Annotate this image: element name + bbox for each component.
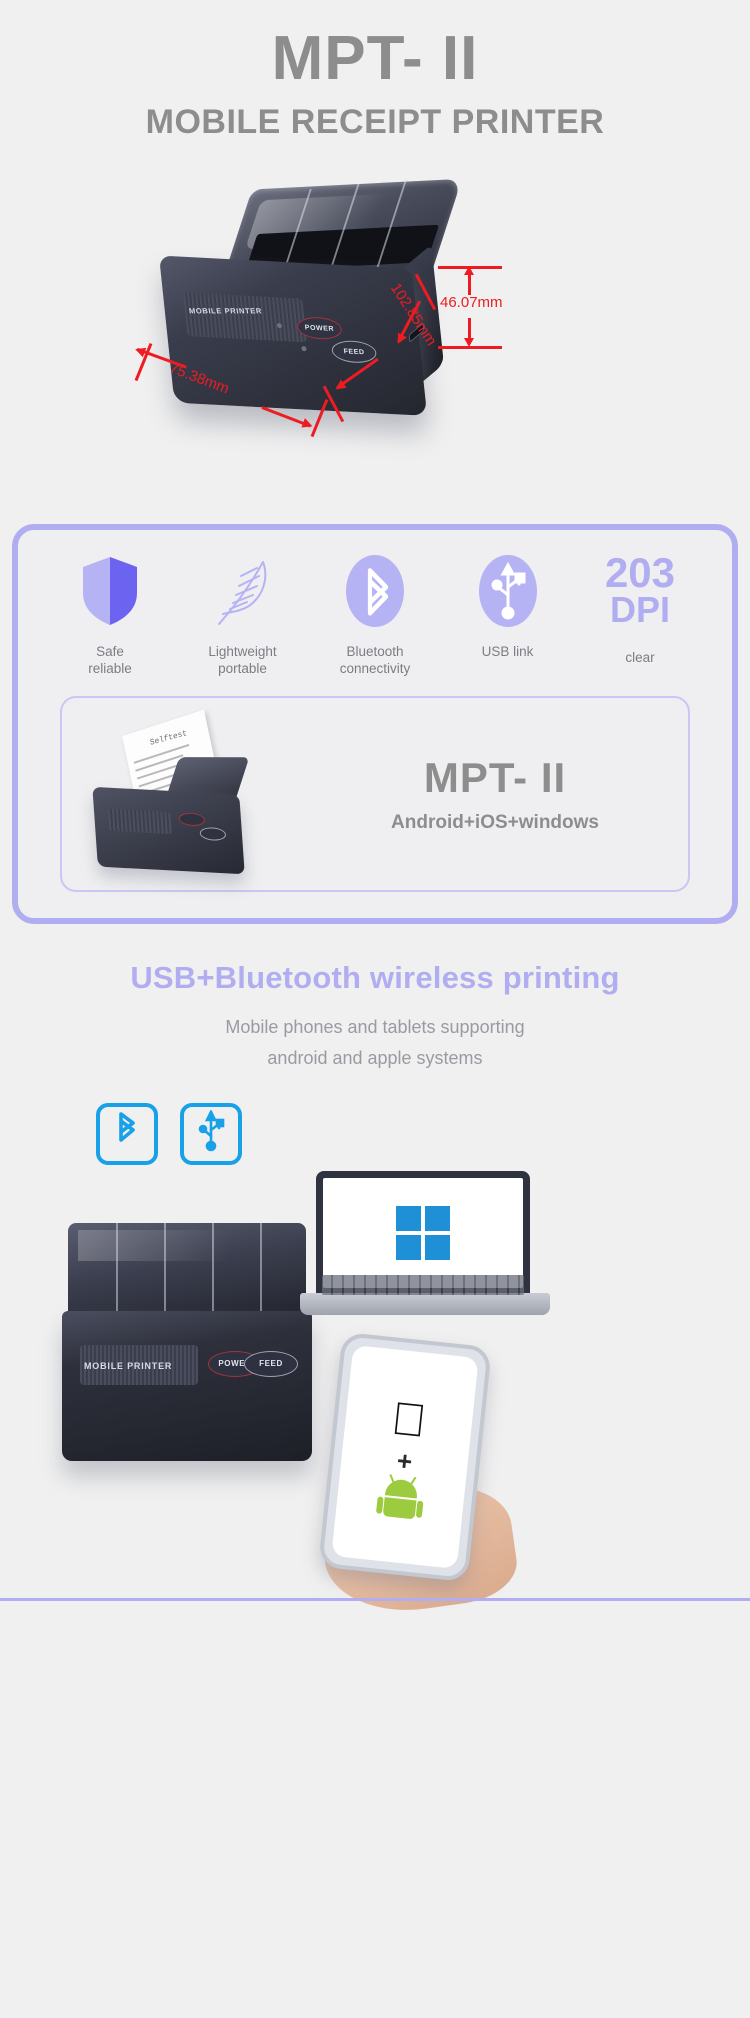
printer-lid — [68, 1223, 306, 1315]
caption-line-1: Lightweight — [179, 644, 307, 661]
feature-caption: USB link — [444, 644, 572, 661]
wireless-subtext: Mobile phones and tablets supporting and… — [0, 1012, 750, 1075]
caption-line-2: connectivity — [311, 661, 439, 678]
dpi-number: 203 — [605, 554, 675, 593]
windows-logo-icon — [396, 1206, 450, 1260]
android-robot-icon — [376, 1477, 426, 1520]
mini-textured-panel — [108, 809, 172, 834]
feature-item-usb: USB link — [444, 552, 572, 661]
printer-body: MOBILE PRINTER POWER FEED — [62, 1311, 312, 1461]
feature-item-lightweight: Lightweight portable — [179, 552, 307, 678]
device-brand-label: MOBILE PRINTER — [84, 1361, 172, 1371]
usb-badge — [180, 1103, 242, 1165]
wireless-subline-2: android and apple systems — [0, 1043, 750, 1075]
usb-icon — [196, 1110, 226, 1157]
hero-section: MPT- II MOBILE RECEIPT PRINTER — [0, 0, 750, 142]
product-card-text: MPT- II Android+iOS+windows — [312, 754, 688, 834]
caption-line-1: USB link — [444, 644, 572, 661]
feature-item-safe: Safe reliable — [46, 552, 174, 678]
os-support-label: Android+iOS+windows — [312, 812, 678, 834]
feature-caption: clear — [576, 650, 704, 667]
laptop-base — [300, 1293, 550, 1315]
caption-line-2: reliable — [46, 661, 174, 678]
laptop-illustration — [300, 1171, 550, 1331]
feature-item-bluetooth: Bluetooth connectivity — [311, 552, 439, 678]
phone-screen:  + — [331, 1345, 478, 1569]
feature-icon-row: Safe reliable Lightweight portable — [34, 552, 716, 678]
product-photo-with-dimensions: MOBILE PRINTER POWER FEED 46.07mm 75.38m… — [0, 172, 750, 512]
feed-button[interactable]: FEED — [244, 1351, 298, 1377]
plus-symbol: + — [396, 1447, 414, 1474]
printer-front-illustration: MOBILE PRINTER POWER FEED — [62, 1223, 314, 1483]
feather-icon — [179, 552, 307, 630]
apple-logo-icon:  — [389, 1394, 428, 1443]
wireless-subline-1: Mobile phones and tablets supporting — [0, 1012, 750, 1044]
product-model-card: Selftest MPT- II Android+iOS+windows — [60, 696, 690, 892]
connectivity-badge-row — [0, 1103, 750, 1165]
laptop-keyboard — [322, 1275, 524, 1295]
feature-caption: Safe reliable — [46, 644, 174, 678]
feature-caption: Bluetooth connectivity — [311, 644, 439, 678]
bluetooth-icon — [112, 1111, 142, 1156]
product-model-name: MPT- II — [312, 754, 678, 802]
dpi-unit: DPI — [605, 592, 675, 628]
caption-line-1: Safe — [46, 644, 174, 661]
page-title: MPT- II — [0, 26, 750, 91]
phone-body:  + — [318, 1332, 492, 1582]
smartphone-in-hand:  + — [330, 1339, 500, 1589]
textured-panel — [183, 292, 307, 342]
status-led — [277, 323, 283, 328]
device-compatibility-section: MOBILE PRINTER POWER FEED  + — [0, 1171, 750, 1601]
device-brand-label: MOBILE PRINTER — [188, 307, 262, 316]
caption-line-2: portable — [179, 661, 307, 678]
usb-icon — [444, 552, 572, 630]
status-led — [301, 346, 307, 351]
footer-accent-rule — [0, 1598, 750, 1601]
printer-illustration: MOBILE PRINTER POWER FEED — [136, 174, 480, 456]
page-subtitle: MOBILE RECEIPT PRINTER — [0, 103, 750, 142]
caption-line-1: clear — [576, 650, 704, 667]
printer-with-receipt-image: Selftest — [62, 704, 312, 884]
feed-button[interactable]: FEED — [331, 340, 378, 364]
wireless-headline: USB+Bluetooth wireless printing — [0, 960, 750, 996]
bluetooth-badge — [96, 1103, 158, 1165]
feature-caption: Lightweight portable — [179, 644, 307, 678]
printer-front-face: MOBILE PRINTER POWER FEED — [176, 288, 383, 384]
caption-line-1: Bluetooth — [311, 644, 439, 661]
dpi-value-text: 203 DPI — [576, 552, 704, 630]
dimension-height-label: 46.07mm — [440, 294, 503, 311]
feature-panel: Safe reliable Lightweight portable — [12, 524, 738, 924]
shield-icon — [46, 552, 174, 630]
bluetooth-icon — [311, 552, 439, 630]
feature-item-dpi: 203 DPI clear — [576, 552, 704, 667]
mini-printer-illustration: Selftest — [81, 732, 270, 884]
